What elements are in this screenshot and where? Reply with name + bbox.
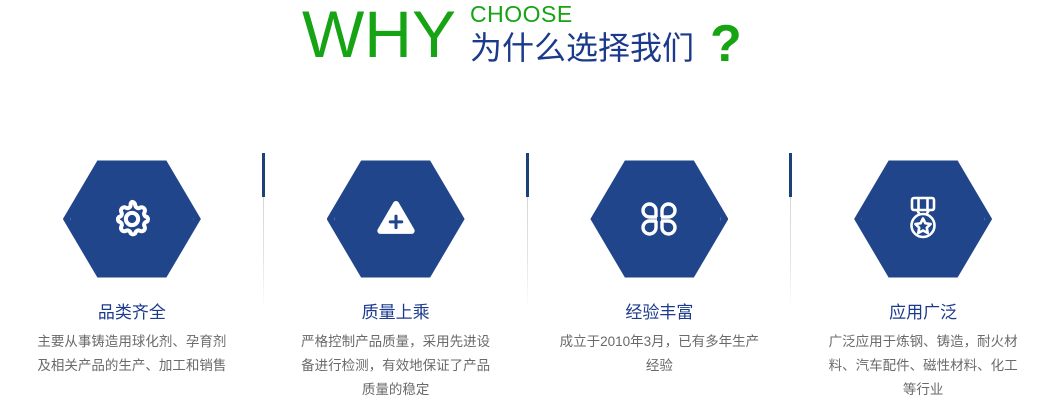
- header-middle-stack: CHOOSE 为什么选择我们: [470, 1, 694, 67]
- header-question-mark: ?: [710, 16, 742, 72]
- feature-cards-row: 品类齐全 主要从事铸造用球化剂、孕育剂及相关产品的生产、加工和销售 质量上乘 严…: [0, 150, 1055, 416]
- feature-card-2[interactable]: 质量上乘 严格控制产品质量，采用先进设备进行检测，有效地保证了产品质量的稳定: [264, 150, 528, 416]
- header-choose-text: CHOOSE: [470, 1, 694, 27]
- feature-card-title: 经验丰富: [625, 302, 693, 324]
- header-chinese-title: 为什么选择我们: [470, 29, 694, 67]
- hexagon-badge-3: [590, 158, 728, 280]
- feature-card-description: 主要从事铸造用球化剂、孕育剂及相关产品的生产、加工和销售: [32, 330, 232, 378]
- header-why-text: WHY: [302, 0, 456, 70]
- feature-card-title: 应用广泛: [889, 302, 957, 324]
- feature-card-description: 广泛应用于炼钢、铸造，耐火材料、汽车配件、磁性材料、化工等行业: [823, 330, 1023, 402]
- feature-card-description: 严格控制产品质量，采用先进设备进行检测，有效地保证了产品质量的稳定: [296, 330, 496, 402]
- header-title-group: WHY CHOOSE 为什么选择我们 ?: [302, 0, 742, 72]
- feature-card-description: 成立于2010年3月，已有多年生产经验: [559, 330, 759, 378]
- triangle-plus-icon: [327, 158, 465, 280]
- section-header: WHY CHOOSE 为什么选择我们 ?: [0, 0, 1055, 95]
- feature-card-title: 质量上乘: [362, 302, 430, 324]
- feature-card-3[interactable]: 经验丰富 成立于2010年3月，已有多年生产经验: [528, 150, 792, 416]
- hexagon-badge-1: [63, 158, 201, 280]
- hexagon-badge-4: [854, 158, 992, 280]
- feature-card-1[interactable]: 品类齐全 主要从事铸造用球化剂、孕育剂及相关产品的生产、加工和销售: [0, 150, 264, 416]
- feature-card-title: 品类齐全: [98, 302, 166, 324]
- medal-icon: [854, 158, 992, 280]
- feature-card-4[interactable]: 应用广泛 广泛应用于炼钢、铸造，耐火材料、汽车配件、磁性材料、化工等行业: [791, 150, 1055, 416]
- hexagon-badge-2: [327, 158, 465, 280]
- clover-icon: [590, 158, 728, 280]
- gear-icon: [63, 158, 201, 280]
